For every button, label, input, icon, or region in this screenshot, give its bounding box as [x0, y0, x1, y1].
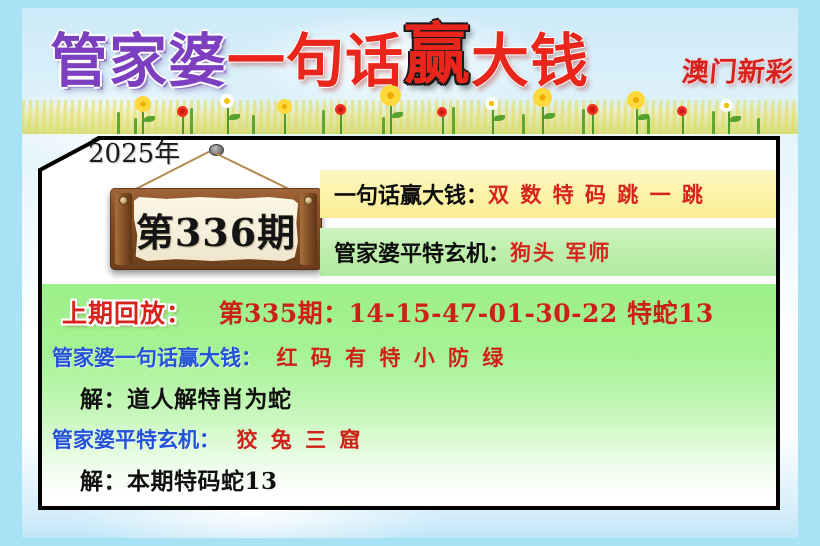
- flower-grass-band: [22, 82, 798, 134]
- hint-2-answer-text: 解：本期特码蛇13: [80, 468, 278, 495]
- hint-answer-1: 解：道人解特肖为蛇: [80, 380, 292, 414]
- recap-label: 上期回放：: [62, 299, 192, 328]
- hint-1-label: 管家婆一句话赢大钱：: [52, 346, 262, 370]
- poster-root: 管家婆一句话赢大钱 澳门新彩: [0, 0, 820, 546]
- issue-number: 第336期: [136, 202, 296, 257]
- sign-screw-right: [304, 196, 313, 205]
- hanging-sign: 第336期: [100, 146, 330, 278]
- hint-1-answer-text: 解：道人解特肖为蛇: [80, 386, 292, 413]
- hint-1-value: 红 码 有 特 小 防 绿: [276, 346, 506, 370]
- recap-row: 上期回放： 第335期：14-15-47-01-30-22 特蛇13: [62, 294, 714, 330]
- hint-2-value: 狡 兔 三 窟: [236, 428, 363, 452]
- hint-2-label: 管家婆平特玄机：: [52, 428, 220, 452]
- tip-box-yellow: 一句话赢大钱： 双 数 特 码 跳 一 跳: [320, 170, 776, 218]
- tip-yellow-label: 一句话赢大钱：: [334, 178, 488, 210]
- recap-value: 第335期：14-15-47-01-30-22 特蛇13: [218, 299, 713, 328]
- tip-green-value: 狗头 军师: [510, 237, 611, 267]
- sign-paper: 第336期: [134, 197, 298, 261]
- hint-row-1: 管家婆一句话赢大钱： 红 码 有 特 小 防 绿: [52, 342, 506, 372]
- sign-screw-left: [119, 196, 128, 205]
- recap-panel: 上期回放： 第335期：14-15-47-01-30-22 特蛇13 管家婆一句…: [42, 284, 776, 506]
- hint-row-2: 管家婆平特玄机： 狡 兔 三 窟: [52, 424, 363, 454]
- hint-answer-2: 解：本期特码蛇13: [80, 462, 278, 496]
- tip-green-label: 管家婆平特玄机：: [334, 236, 510, 268]
- sign-board: 第336期: [110, 188, 322, 270]
- tip-box-green: 管家婆平特玄机： 狗头 军师: [320, 228, 776, 276]
- tip-yellow-value: 双 数 特 码 跳 一 跳: [488, 179, 705, 209]
